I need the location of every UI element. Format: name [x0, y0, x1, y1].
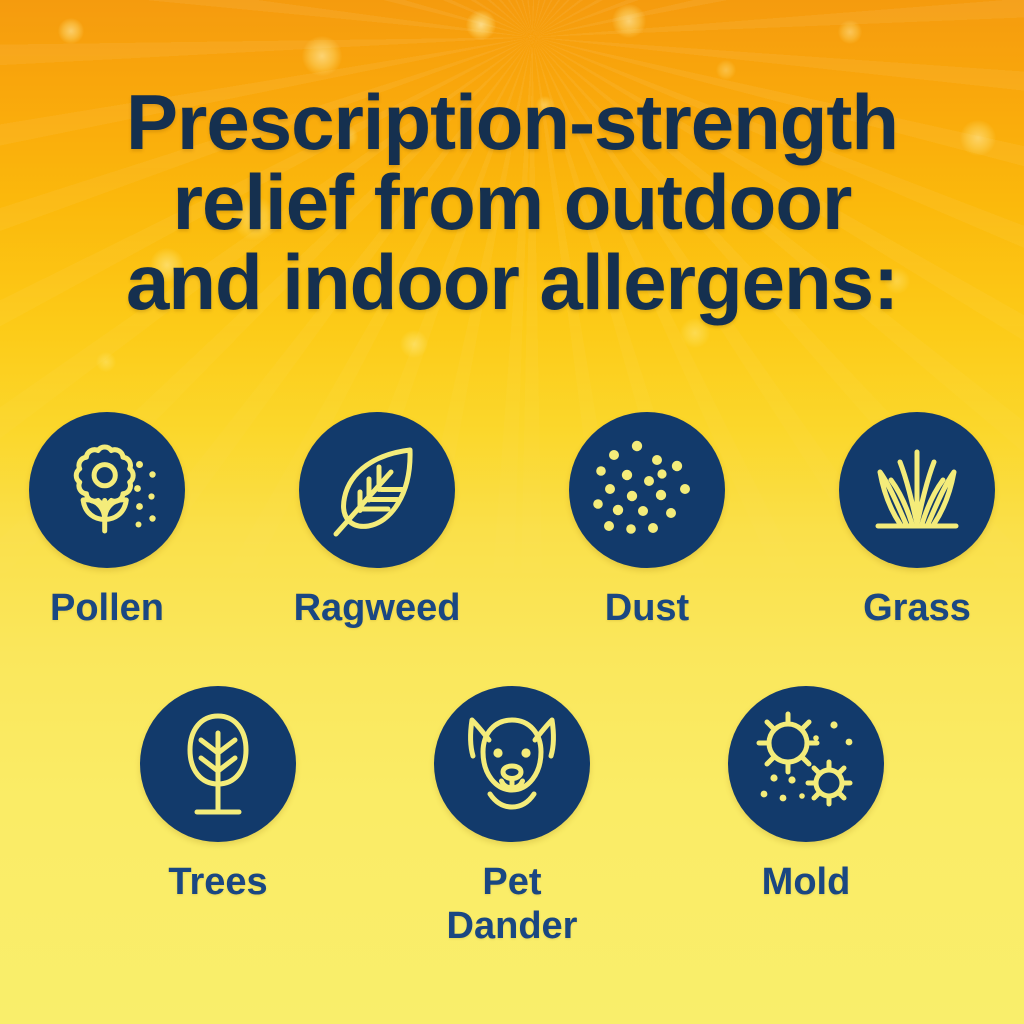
allergen-poster: Prescription-strength relief from outdoo… — [0, 0, 1024, 1024]
allergen-badge-trees — [140, 686, 296, 842]
dust-particles-icon — [591, 434, 703, 546]
indoor-allergen-row: Trees — [0, 686, 1024, 948]
allergen-item-mold[interactable]: Mold — [713, 686, 899, 948]
allergen-item-dust[interactable]: Dust — [568, 412, 726, 630]
title-line-3: and indoor allergens: — [0, 242, 1024, 322]
pollen-dots — [134, 461, 156, 528]
allergen-item-trees[interactable]: Trees — [125, 686, 311, 948]
allergen-label-grass: Grass — [863, 586, 971, 630]
allergen-item-grass[interactable]: Grass — [838, 412, 996, 630]
allergen-label-trees: Trees — [168, 860, 267, 904]
page-title: Prescription-strength relief from outdoo… — [0, 82, 1024, 322]
allergen-badge-pollen — [29, 412, 185, 568]
grass-blades-icon — [863, 436, 971, 544]
mold-spores-icon — [750, 708, 862, 820]
pet-face-icon — [456, 708, 568, 820]
allergen-item-pet-dander[interactable]: Pet Dander — [419, 686, 605, 948]
allergen-badge-mold — [728, 686, 884, 842]
outdoor-allergen-row: Pollen Ragweed — [0, 412, 1024, 630]
allergen-label-dust: Dust — [605, 586, 689, 630]
allergen-badge-pet-dander — [434, 686, 590, 842]
allergen-item-ragweed[interactable]: Ragweed — [298, 412, 456, 630]
allergen-badge-dust — [569, 412, 725, 568]
allergen-item-pollen[interactable]: Pollen — [28, 412, 186, 630]
allergen-label-pet-dander: Pet Dander — [447, 860, 578, 948]
allergen-label-ragweed: Ragweed — [294, 586, 461, 630]
allergen-label-pollen: Pollen — [50, 586, 164, 630]
allergen-badge-ragweed — [299, 412, 455, 568]
title-line-2: relief from outdoor — [0, 162, 1024, 242]
tree-icon — [165, 711, 271, 817]
title-line-1: Prescription-strength — [0, 82, 1024, 162]
allergen-label-mold: Mold — [762, 860, 851, 904]
leaf-icon — [324, 437, 430, 543]
flower-pollen-icon — [51, 434, 163, 546]
allergen-badge-grass — [839, 412, 995, 568]
